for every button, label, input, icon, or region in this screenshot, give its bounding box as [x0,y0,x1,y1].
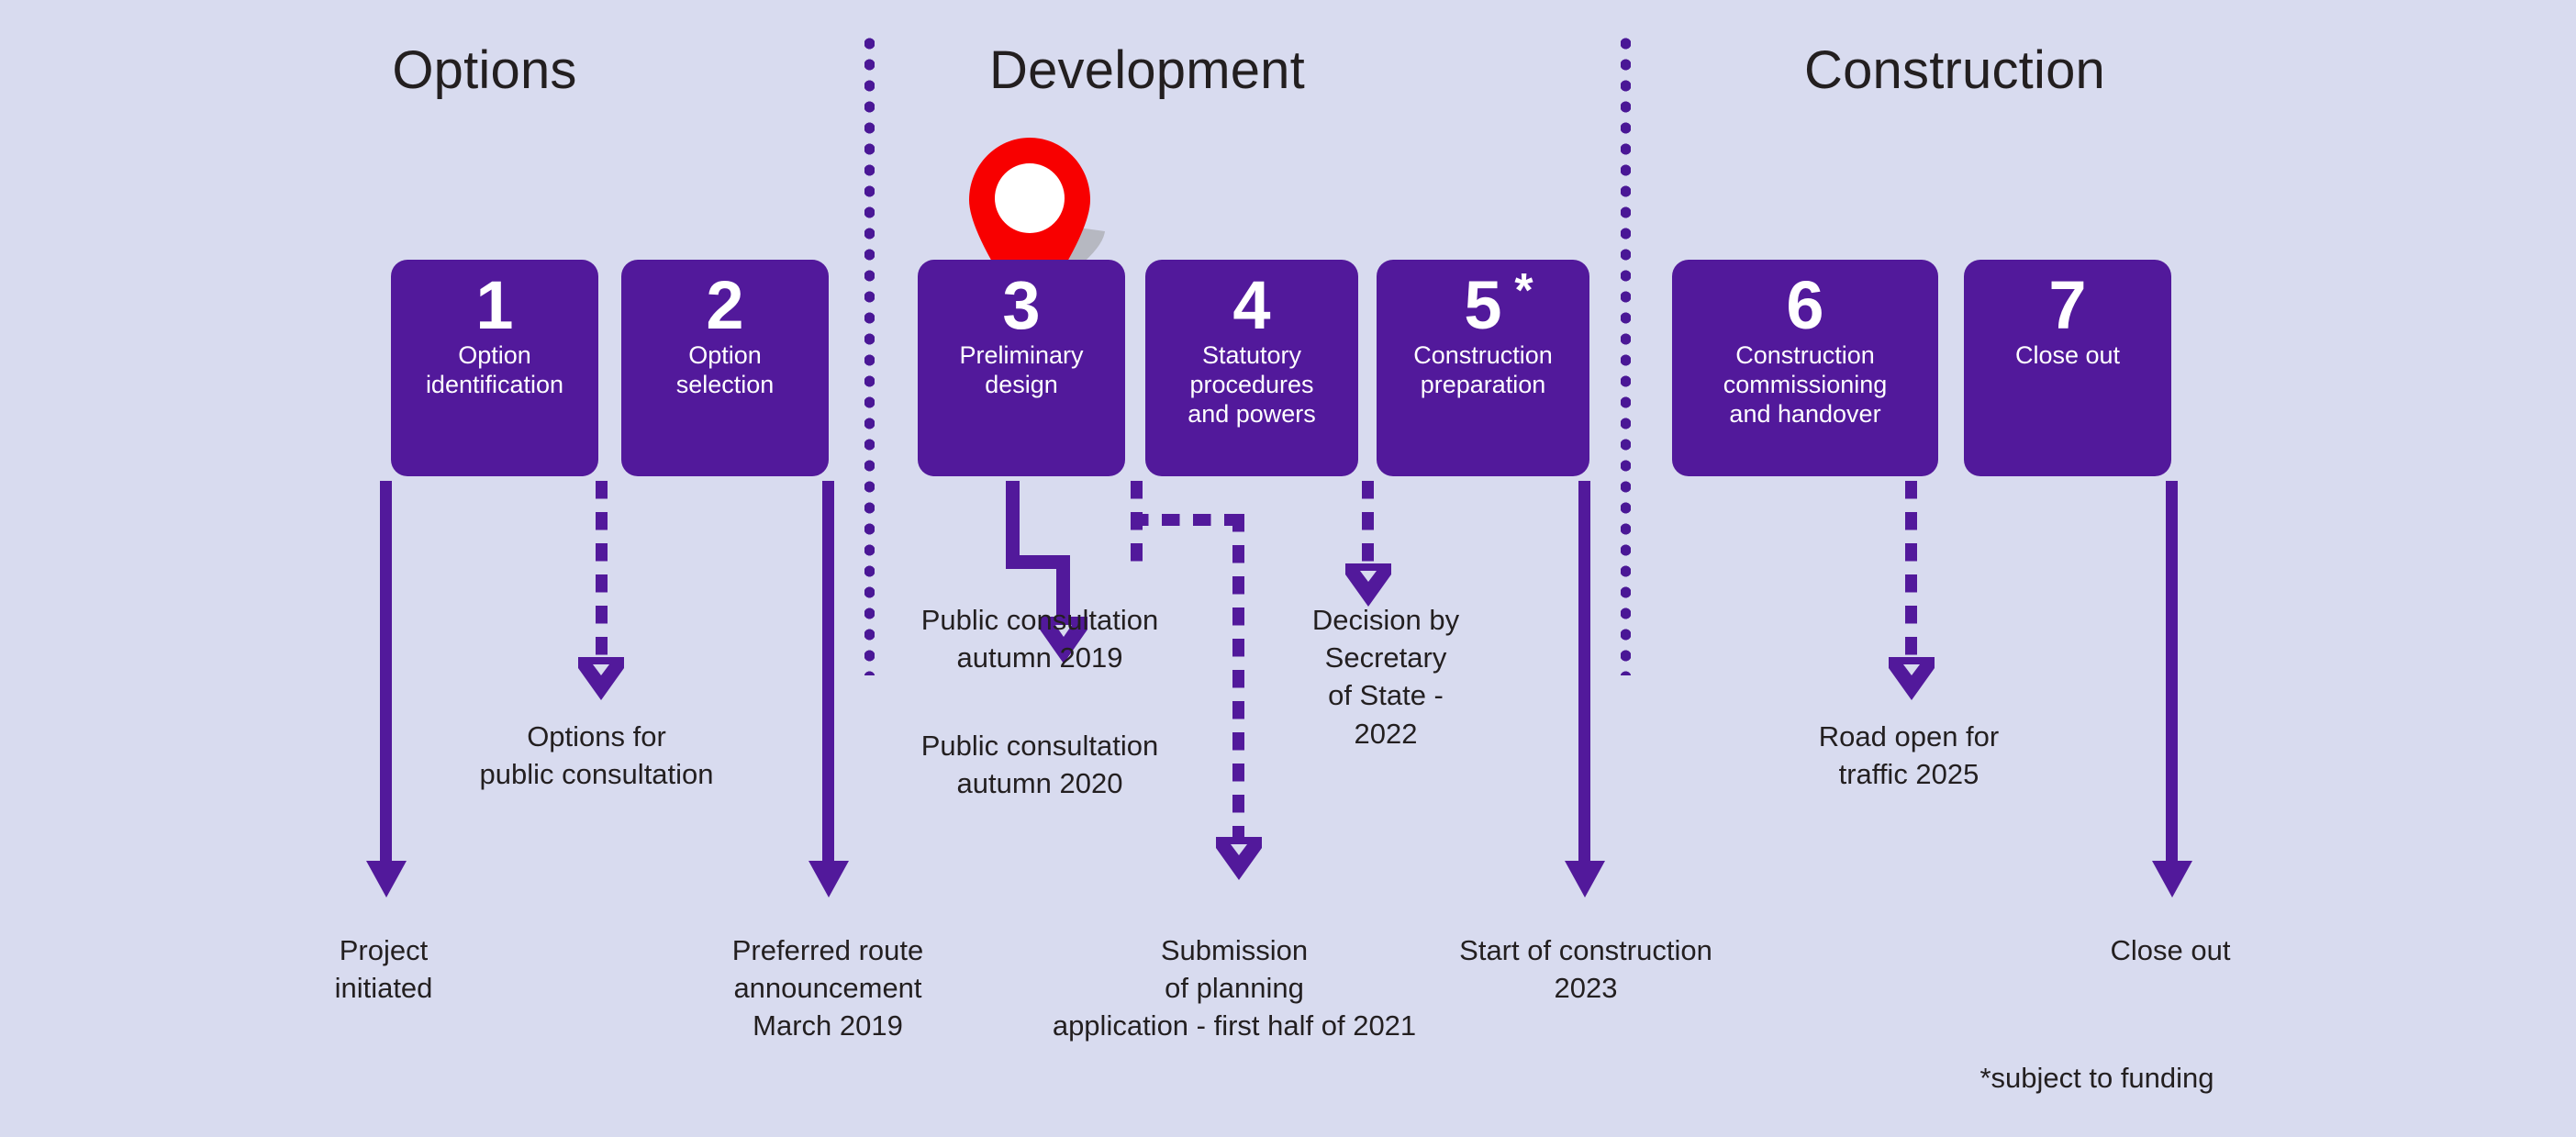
connector-stage6-arrowhead [1889,657,1935,699]
caption-start-of-construction: Start of construction 2023 [1421,931,1751,1007]
stage-number-4: 4 [1232,271,1270,340]
stage-number-1: 1 [475,271,513,340]
stage-card-7[interactable]: 7 Close out [1964,260,2171,476]
stage-label-6: Construction commissioning and handover [1716,341,1895,429]
stage-label-5: Construction preparation [1406,341,1560,399]
caption-project-initiated: Project initiated [269,931,498,1007]
caption-decision-by-secretary-of-state: Decision by Secretary of State - 2022 [1285,601,1487,752]
timeline-diagram: Options Development Construction 1 Optio… [0,0,2576,1137]
caption-close-out: Close out [2056,931,2285,969]
stage-number-6: 6 [1786,271,1823,340]
stage-card-6[interactable]: 6 Construction commissioning and handove… [1672,260,1938,476]
connector-stage2-preferred-route-stem [822,481,834,863]
stage-label-3: Preliminary design [952,341,1090,399]
connector-stage6-stem [1905,481,1917,663]
stage-card-4[interactable]: 4 Statutory procedures and powers [1145,260,1358,476]
caption-options-for-public-consultation: Options for public consultation [463,718,730,793]
connector-stage4-elbow-v2 [1232,514,1244,842]
stage-number-5: 5* [1464,271,1501,340]
connector-stage2-preferred-route-arrowhead [808,861,849,897]
phase-divider-options-development [864,33,875,675]
stage-number-3: 3 [1002,271,1040,340]
caption-public-consultation-2020: Public consultation autumn 2020 [888,727,1191,802]
caption-public-consultation-2019: Public consultation autumn 2019 [888,601,1191,676]
stage-card-2[interactable]: 2 Option selection [621,260,829,476]
phase-title-construction: Construction [1725,44,2184,97]
stage-card-3[interactable]: 3 Preliminary design [918,260,1125,476]
stage-label-7: Close out [2008,341,2127,371]
connector-stage2-arrowhead [578,657,624,699]
caption-submission-of-planning-application: Submission of planning application - fir… [1019,931,1450,1045]
stage-card-5[interactable]: 5* Construction preparation [1377,260,1589,476]
caption-preferred-route-announcement: Preferred route announcement March 2019 [690,931,965,1045]
stage-label-2: Option selection [669,341,782,399]
stage-5-asterisk: * [1514,267,1533,315]
connector-stage7-stem [2166,481,2178,863]
connector-stage2-stem [596,481,608,663]
phase-title-development: Development [954,44,1340,97]
stage-number-2: 2 [706,271,743,340]
connector-stage4-elbow-h [1131,514,1241,526]
stage-number-7: 7 [2048,271,2086,340]
connector-stage1-stem [380,481,392,863]
stage-card-1[interactable]: 1 Option identification [391,260,598,476]
caption-road-open-for-traffic: Road open for traffic 2025 [1794,718,2024,793]
connector-stage7-arrowhead [2152,861,2192,897]
stage-label-4: Statutory procedures and powers [1180,341,1323,429]
phase-divider-development-construction [1621,33,1631,675]
connector-stage1-arrowhead [366,861,407,897]
phase-title-options: Options [374,44,595,97]
connector-stage4-arrowhead [1216,837,1262,879]
connector-stage5-decision-arrowhead [1345,563,1391,606]
stage-label-1: Option identification [418,341,571,399]
connector-stage5-construction-arrowhead [1565,861,1605,897]
footnote-subject-to-funding: *subject to funding [1886,1060,2308,1097]
connector-stage5-decision-stem [1362,481,1374,571]
connector-stage5-construction-stem [1578,481,1590,863]
